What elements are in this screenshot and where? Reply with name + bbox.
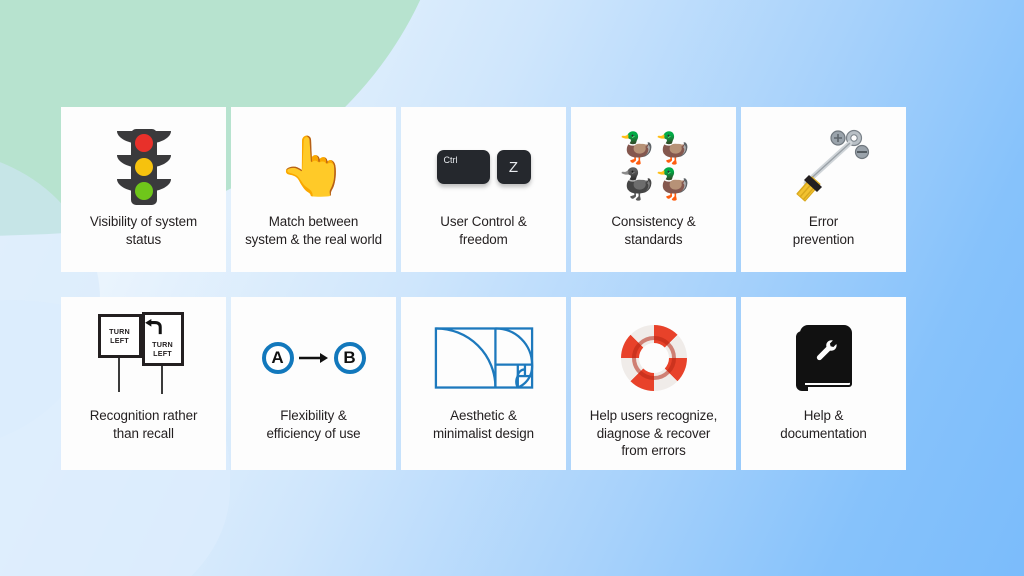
card-visibility-of-system-status[interactable]: Visibility of system status	[61, 107, 226, 272]
card-label-line1: Recognition rather	[90, 408, 198, 423]
card-label-line2: efficiency of use	[266, 426, 360, 441]
card-label-line2: diagnose & recover	[597, 426, 711, 441]
grid-row-bottom: TURN LEFT TURN LEFT Recognition rather	[61, 297, 948, 470]
key-z[interactable]: Z	[497, 150, 531, 184]
card-match-between-system-and-real-world[interactable]: 👆 Match between system & the real world	[231, 107, 396, 272]
golden-ratio-spiral-icon	[401, 309, 566, 407]
card-label: Error prevention	[785, 213, 863, 248]
card-label-line1: Error	[809, 214, 838, 229]
a-to-b-arrow-icon: A B	[231, 309, 396, 407]
book-with-wrench-icon	[741, 309, 906, 407]
card-label-line2: status	[126, 232, 161, 247]
duck-grey: 🦆	[619, 168, 653, 202]
road-sign-arrow: TURN LEFT	[142, 312, 184, 366]
card-label: Visibility of system status	[82, 213, 205, 248]
card-label-line3: from errors	[621, 443, 685, 458]
card-aesthetic-and-minimalist-design[interactable]: Aesthetic & minimalist design	[401, 297, 566, 470]
wrench-icon	[812, 337, 840, 365]
card-label-line1: Match between	[269, 214, 359, 229]
screwdriver-icon	[741, 121, 906, 213]
keyboard-keys-icon: Ctrl Z	[401, 121, 566, 213]
card-label-line1: User Control &	[440, 214, 526, 229]
node-a: A	[262, 342, 294, 374]
sign-post-left	[118, 356, 121, 392]
card-label-line1: Aesthetic &	[450, 408, 517, 423]
card-label-line1: Help users recognize,	[590, 408, 717, 423]
duck-yellow-1: 🦆	[619, 132, 653, 166]
card-user-control-and-freedom[interactable]: Ctrl Z User Control & freedom	[401, 107, 566, 272]
card-label-line2: minimalist design	[433, 426, 534, 441]
card-recognition-rather-than-recall[interactable]: TURN LEFT TURN LEFT Recognition rather	[61, 297, 226, 470]
duck-yellow-3: 🦆	[655, 168, 689, 202]
card-label: Aesthetic & minimalist design	[425, 407, 542, 442]
road-sign-arrow-label: TURN LEFT	[145, 340, 181, 358]
card-label: Consistency & standards	[603, 213, 703, 248]
card-label-line1: Help &	[804, 408, 844, 423]
card-label-line2: freedom	[459, 232, 507, 247]
heuristics-grid: Visibility of system status 👆 Match betw…	[61, 107, 948, 470]
card-label-line2: standards	[625, 232, 683, 247]
screwdriver-svg	[776, 127, 872, 207]
node-b: B	[334, 342, 366, 374]
card-label-line2: prevention	[793, 232, 855, 247]
traffic-light-icon	[61, 121, 226, 213]
card-label-line2: system & the real world	[245, 232, 382, 247]
card-flexibility-and-efficiency-of-use[interactable]: A B Flexibility & efficiency of use	[231, 297, 396, 470]
slide-canvas: Visibility of system status 👆 Match betw…	[0, 0, 1024, 576]
card-label-line2: than recall	[113, 426, 174, 441]
card-label-line1: Flexibility &	[280, 408, 346, 423]
left-turn-arrow-icon	[145, 319, 163, 335]
pointing-hand-icon: 👆	[231, 121, 396, 213]
road-sign-text-label: TURN LEFT	[101, 317, 139, 345]
card-label-line2: documentation	[780, 426, 867, 441]
rubber-ducks-icon: 🦆 🦆 🦆 🦆	[571, 121, 736, 213]
card-label: Help & documentation	[772, 407, 875, 442]
card-help-users-recognize-diagnose-recover-from-errors[interactable]: Help users recognize, diagnose & recover…	[571, 297, 736, 470]
card-label-line1: Visibility of system	[90, 214, 197, 229]
grid-row-top: Visibility of system status 👆 Match betw…	[61, 107, 948, 272]
sign-post-right	[161, 364, 164, 394]
pointing-hand-glyph: 👆	[277, 138, 349, 196]
card-label: Recognition rather than recall	[82, 407, 206, 442]
road-sign-text: TURN LEFT	[98, 314, 142, 358]
road-signs-icon: TURN LEFT TURN LEFT	[61, 309, 226, 407]
card-label-line1: Consistency &	[611, 214, 695, 229]
card-help-and-documentation[interactable]: Help & documentation	[741, 297, 906, 470]
card-consistency-and-standards[interactable]: 🦆 🦆 🦆 🦆 Consistency & standards	[571, 107, 736, 272]
card-label: Flexibility & efficiency of use	[258, 407, 368, 442]
card-label: User Control & freedom	[432, 213, 534, 248]
card-error-prevention[interactable]: Error prevention	[741, 107, 906, 272]
card-label: Match between system & the real world	[237, 213, 390, 248]
card-label: Help users recognize, diagnose & recover…	[582, 407, 725, 460]
arrow-right-icon	[299, 352, 329, 364]
duck-yellow-2: 🦆	[655, 132, 689, 166]
lifebuoy-icon	[571, 309, 736, 407]
fibonacci-spiral-svg	[434, 325, 534, 391]
key-ctrl[interactable]: Ctrl	[437, 150, 490, 184]
